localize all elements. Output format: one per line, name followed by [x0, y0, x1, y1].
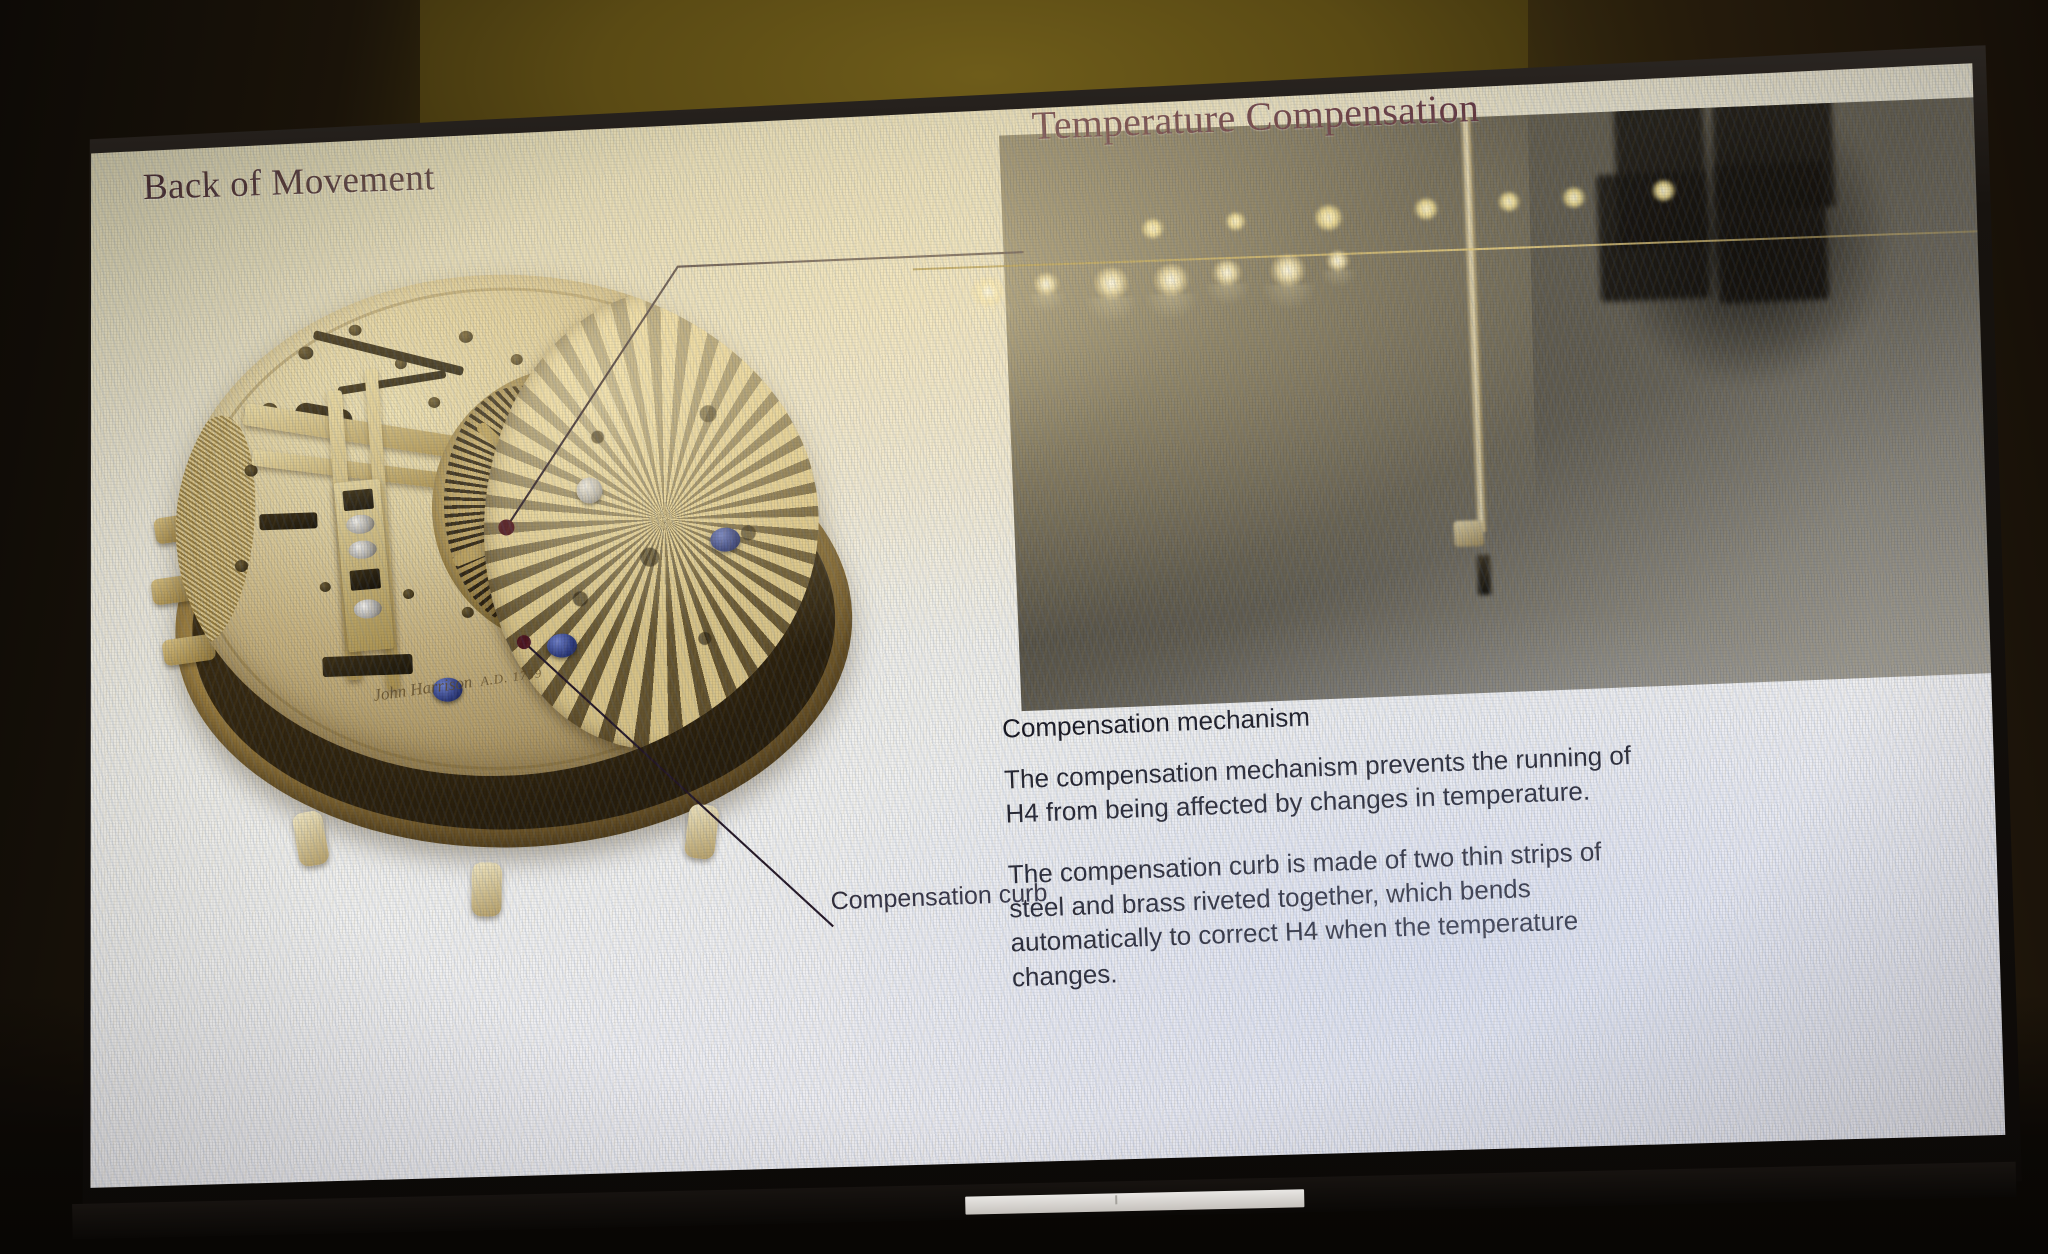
curb-screw	[346, 513, 375, 534]
monitor-power-indicator	[1115, 1195, 1117, 1204]
curb-screw	[354, 598, 383, 619]
blued-jewel	[710, 526, 741, 551]
case-pillar	[291, 809, 330, 867]
plate-screw	[320, 581, 331, 591]
inset-light-dot-4	[1413, 198, 1438, 221]
case-pillar	[471, 862, 502, 916]
inset-light-dot-2	[1225, 213, 1246, 232]
page-title-left: Back of Movement	[142, 156, 435, 209]
case-pillar	[684, 803, 720, 860]
rod-collar	[1454, 520, 1485, 547]
inset-dark-block	[1715, 161, 1829, 303]
steel-block	[259, 511, 317, 529]
presentation-slide: John Harrison A.D. 1759	[60, 55, 2014, 1215]
description-text-panel: Compensation mechanism The compensation …	[1000, 675, 2014, 1094]
plate-screw	[458, 330, 472, 342]
curb-screw	[349, 538, 378, 559]
inset-light-dot-3	[1314, 205, 1343, 231]
balance-spring-rod	[1459, 106, 1488, 532]
steel-block	[322, 653, 413, 676]
text-panel-paragraph: The compensation curb is made of two thi…	[1008, 832, 1653, 994]
text-panel-paragraph: The compensation mechanism prevents the …	[1004, 738, 1646, 832]
photo-scene: John Harrison A.D. 1759	[0, 0, 2048, 1254]
curb-cell	[350, 567, 381, 590]
display-monitor: John Harrison A.D. 1759	[24, 38, 2043, 1241]
movement-photograph: John Harrison A.D. 1759	[135, 199, 1029, 945]
monitor-screen[interactable]: John Harrison A.D. 1759	[60, 55, 2014, 1215]
inset-closeup-photo	[999, 97, 2013, 711]
blued-jewel	[546, 632, 577, 657]
movement-back-plate: John Harrison A.D. 1759	[167, 263, 827, 787]
inset-light-dot-5	[1498, 191, 1521, 212]
curb-cell	[343, 487, 374, 510]
inset-light-dot-1	[1141, 219, 1164, 240]
rod-tip-dark	[1477, 554, 1492, 594]
